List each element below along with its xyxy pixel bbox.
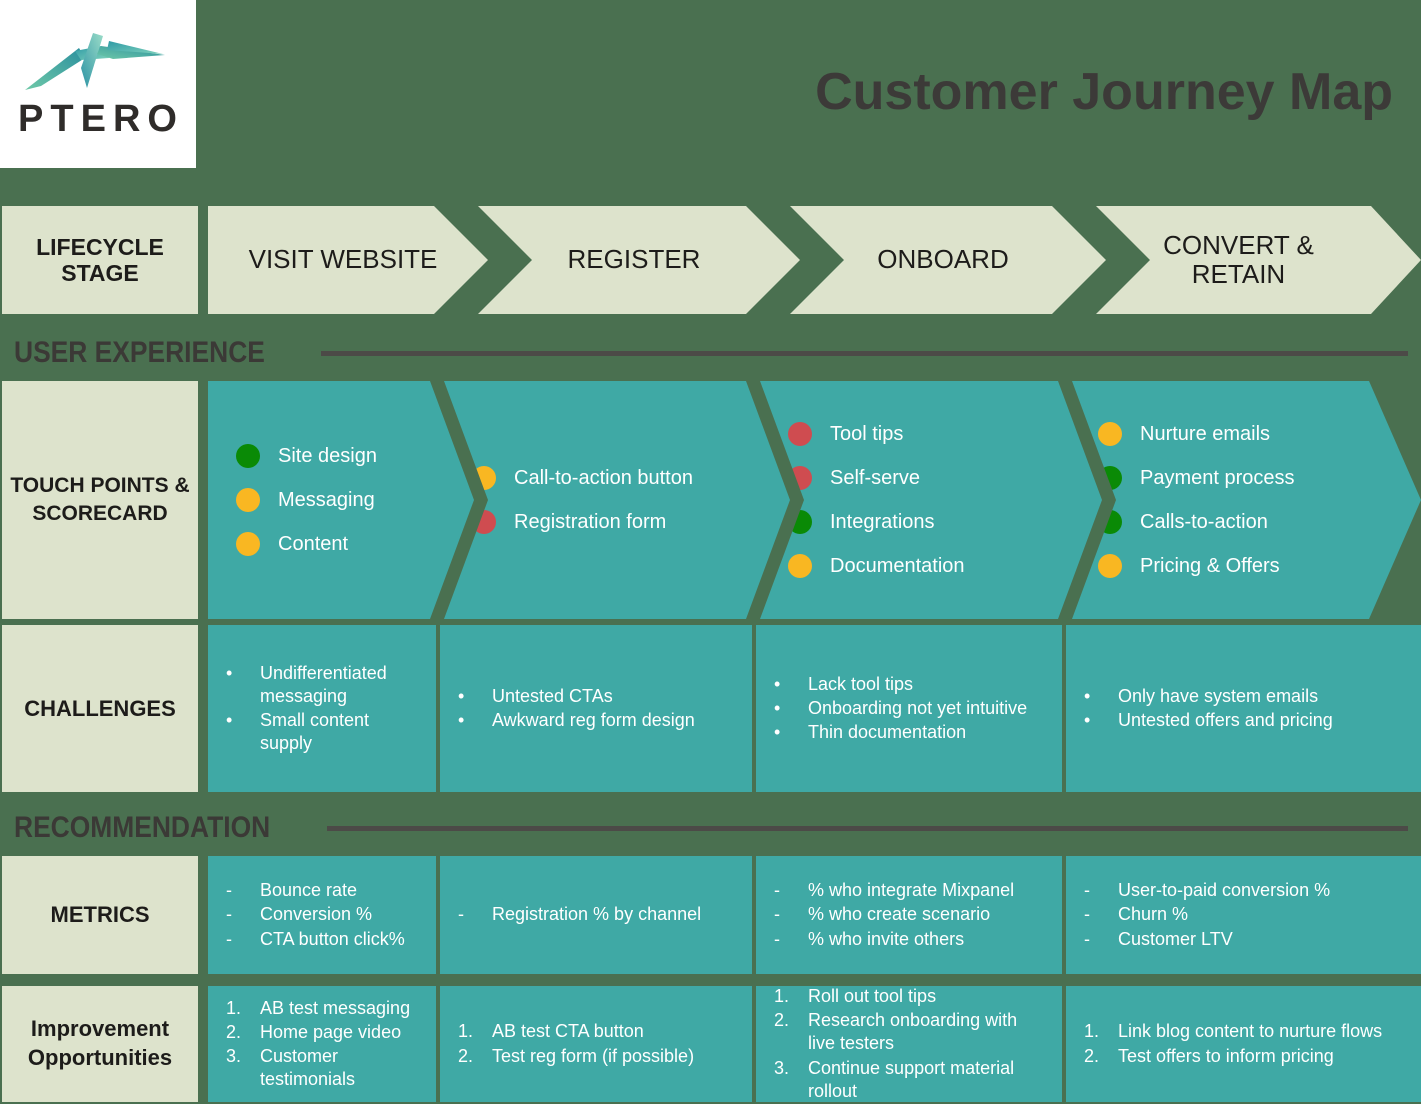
list-item-text: Churn % xyxy=(1118,903,1403,926)
touchpoint-item[interactable]: Call-to-action button xyxy=(472,466,768,490)
metrics-card-1: -Bounce rate-Conversion %-CTA button cli… xyxy=(208,856,436,974)
touchpoint-chevron-divider-1 xyxy=(426,381,492,619)
touchpoint-chevron-divider-3 xyxy=(1054,381,1120,619)
list-item: •Awkward reg form design xyxy=(458,709,734,732)
challenges-list: •Untested CTAs•Awkward reg form design xyxy=(458,684,734,733)
list-item: 2.Research onboarding with live testers xyxy=(774,1009,1044,1055)
list-item: •Onboarding not yet intuitive xyxy=(774,697,1044,720)
stage-chevron-separator-2 xyxy=(746,206,846,314)
list-item-text: AB test messaging xyxy=(260,997,418,1020)
list-item: -Churn % xyxy=(1084,903,1403,926)
touchpoint-item[interactable]: Calls-to-action xyxy=(1098,510,1421,534)
improvement-card-2: 1.AB test CTA button2.Test reg form (if … xyxy=(440,986,752,1102)
list-item-text: Thin documentation xyxy=(808,721,1044,744)
list-item-text: Roll out tool tips xyxy=(808,985,1044,1008)
list-item-text: Home page video xyxy=(260,1021,418,1044)
metrics-list: -% who integrate Mixpanel-% who create s… xyxy=(774,878,1044,951)
touchpoint-label: Site design xyxy=(278,445,377,468)
metrics-list: -Registration % by channel xyxy=(458,902,734,927)
list-marker: 2. xyxy=(458,1045,492,1068)
challenges-list: •Undifferentiated messaging•Small conten… xyxy=(226,661,418,756)
lifecycle-stage-strip: VISIT WEBSITEREGISTERONBOARDCONVERT & RE… xyxy=(208,206,1421,314)
row-label-metrics: METRICS xyxy=(2,856,198,974)
list-item-text: Awkward reg form design xyxy=(492,709,734,732)
list-item: •Undifferentiated messaging xyxy=(226,662,418,708)
list-item-text: % who invite others xyxy=(808,928,1044,951)
list-item-text: Customer LTV xyxy=(1118,928,1403,951)
list-item-text: Registration % by channel xyxy=(492,903,734,926)
list-item-text: Link blog content to nurture flows xyxy=(1118,1020,1403,1043)
challenges-card-1: •Undifferentiated messaging•Small conten… xyxy=(208,625,436,792)
list-item-text: Bounce rate xyxy=(260,879,418,902)
list-item-text: Only have system emails xyxy=(1118,685,1403,708)
touchpoint-item[interactable]: Self-serve xyxy=(788,466,1078,490)
section-rule xyxy=(321,351,1408,356)
list-marker: - xyxy=(774,879,808,902)
touchpoint-item[interactable]: Site design xyxy=(236,444,452,468)
touchpoint-label: Messaging xyxy=(278,489,375,512)
section-heading-recommendation: RECOMMENDATION xyxy=(14,811,1414,845)
list-marker: - xyxy=(1084,903,1118,926)
status-dot-green-icon xyxy=(236,444,260,468)
touchpoint-item[interactable]: Content xyxy=(236,532,452,556)
list-item: -% who create scenario xyxy=(774,903,1044,926)
list-marker: • xyxy=(774,697,808,720)
list-marker: • xyxy=(458,709,492,732)
stage-chevron-separator-3 xyxy=(1052,206,1152,314)
touchpoint-label: Calls-to-action xyxy=(1140,511,1268,534)
challenges-row: CHALLENGES •Undifferentiated messaging•S… xyxy=(0,625,1421,792)
lifecycle-stage-label: ONBOARD xyxy=(877,245,1008,274)
list-item: 1.Roll out tool tips xyxy=(774,985,1044,1008)
list-item: -Conversion % xyxy=(226,903,418,926)
improvement-card-3: 1.Roll out tool tips2.Research onboardin… xyxy=(756,986,1062,1102)
challenges-list: •Only have system emails•Untested offers… xyxy=(1084,684,1403,733)
improvement-list: 1.AB test messaging2.Home page video3.Cu… xyxy=(226,996,418,1092)
improvement-card-4: 1.Link blog content to nurture flows2.Te… xyxy=(1066,986,1421,1102)
touchpoint-label: Nurture emails xyxy=(1140,423,1270,446)
list-item: -% who invite others xyxy=(774,928,1044,951)
improvement-opportunities-row: Improvement Opportunities 1.AB test mess… xyxy=(0,986,1421,1102)
list-item: •Lack tool tips xyxy=(774,673,1044,696)
list-item-text: CTA button click% xyxy=(260,928,418,951)
list-marker: 3. xyxy=(226,1045,260,1091)
touchpoint-item[interactable]: Pricing & Offers xyxy=(1098,554,1421,578)
list-item-text: Continue support material rollout xyxy=(808,1057,1044,1103)
list-marker: - xyxy=(774,928,808,951)
list-marker: 1. xyxy=(1084,1020,1118,1043)
list-item: 2.Test offers to inform pricing xyxy=(1084,1045,1403,1068)
list-item-text: Onboarding not yet intuitive xyxy=(808,697,1044,720)
list-item-text: % who create scenario xyxy=(808,903,1044,926)
list-item: •Only have system emails xyxy=(1084,685,1403,708)
list-marker: 1. xyxy=(774,985,808,1008)
section-title: USER EXPERIENCE xyxy=(14,336,265,370)
list-marker: 2. xyxy=(774,1009,808,1055)
list-item: 2.Home page video xyxy=(226,1021,418,1044)
challenges-list: •Lack tool tips•Onboarding not yet intui… xyxy=(774,672,1044,745)
touchpoints-row: TOUCH POINTS & SCORECARD Site designMess… xyxy=(0,381,1421,619)
list-item: -Customer LTV xyxy=(1084,928,1403,951)
list-marker: - xyxy=(1084,928,1118,951)
improvement-list: 1.Roll out tool tips2.Research onboardin… xyxy=(774,984,1044,1103)
touchpoint-label: Registration form xyxy=(514,511,666,534)
list-item: •Untested CTAs xyxy=(458,685,734,708)
metrics-card-3: -% who integrate Mixpanel-% who create s… xyxy=(756,856,1062,974)
list-item: •Untested offers and pricing xyxy=(1084,709,1403,732)
list-item-text: User-to-paid conversion % xyxy=(1118,879,1403,902)
list-marker: • xyxy=(774,721,808,744)
list-item-text: Untested offers and pricing xyxy=(1118,709,1403,732)
list-item: 1.AB test messaging xyxy=(226,997,418,1020)
list-marker: • xyxy=(1084,709,1118,732)
list-item: •Small content supply xyxy=(226,709,418,755)
list-marker: - xyxy=(226,903,260,926)
list-item: 3.Continue support material rollout xyxy=(774,1057,1044,1103)
metrics-card-2: -Registration % by channel xyxy=(440,856,752,974)
touchpoint-label: Payment process xyxy=(1140,467,1295,490)
touchpoint-label: Tool tips xyxy=(830,423,903,446)
list-item: -% who integrate Mixpanel xyxy=(774,879,1044,902)
touchpoint-label: Call-to-action button xyxy=(514,467,693,490)
improvement-list: 1.AB test CTA button2.Test reg form (if … xyxy=(458,1019,734,1068)
touchpoint-label: Content xyxy=(278,533,348,556)
list-item: -Bounce rate xyxy=(226,879,418,902)
row-label-challenges: CHALLENGES xyxy=(2,625,198,792)
challenges-card-2: •Untested CTAs•Awkward reg form design xyxy=(440,625,752,792)
list-marker: 1. xyxy=(458,1020,492,1043)
section-title: RECOMMENDATION xyxy=(14,811,270,845)
challenges-card-4: •Only have system emails•Untested offers… xyxy=(1066,625,1421,792)
improvement-list: 1.Link blog content to nurture flows2.Te… xyxy=(1084,1019,1403,1068)
list-item: -CTA button click% xyxy=(226,928,418,951)
improvement-card-1: 1.AB test messaging2.Home page video3.Cu… xyxy=(208,986,436,1102)
list-marker: • xyxy=(1084,685,1118,708)
list-item-text: Test offers to inform pricing xyxy=(1118,1045,1403,1068)
status-dot-yellow-icon xyxy=(236,488,260,512)
section-heading-user-experience: USER EXPERIENCE xyxy=(14,336,1414,370)
touchpoint-item[interactable]: Messaging xyxy=(236,488,452,512)
list-marker: • xyxy=(226,709,260,755)
list-item: •Thin documentation xyxy=(774,721,1044,744)
list-marker: - xyxy=(458,903,492,926)
metrics-row: METRICS -Bounce rate-Conversion %-CTA bu… xyxy=(0,856,1421,974)
touchpoint-label: Pricing & Offers xyxy=(1140,555,1280,578)
brand-logo: PTERO xyxy=(0,0,196,168)
list-item-text: Research onboarding with live testers xyxy=(808,1009,1044,1055)
list-item-text: Lack tool tips xyxy=(808,673,1044,696)
lifecycle-stage-row: LIFECYCLE STAGE VISIT WEBSITEREGISTERONB… xyxy=(0,206,1421,314)
list-item: -Registration % by channel xyxy=(458,903,734,926)
lifecycle-stage-label: REGISTER xyxy=(568,245,701,274)
touchpoint-item[interactable]: Integrations xyxy=(788,510,1078,534)
list-marker: 2. xyxy=(1084,1045,1118,1068)
touchpoint-item[interactable]: Tool tips xyxy=(788,422,1078,446)
touchpoints-strip: Site designMessagingContentCall-to-actio… xyxy=(208,381,1421,619)
list-marker: 2. xyxy=(226,1021,260,1044)
metrics-list: -User-to-paid conversion %-Churn %-Custo… xyxy=(1084,878,1403,951)
touchpoint-column-1: Site designMessagingContent xyxy=(208,381,452,619)
touchpoint-item[interactable]: Nurture emails xyxy=(1098,422,1421,446)
touchpoint-label: Documentation xyxy=(830,555,965,578)
list-marker: • xyxy=(458,685,492,708)
list-item-text: Conversion % xyxy=(260,903,418,926)
pterodactyl-bird-icon xyxy=(23,28,173,96)
row-label-lifecycle: LIFECYCLE STAGE xyxy=(2,206,198,314)
list-item-text: Untested CTAs xyxy=(492,685,734,708)
list-marker: 1. xyxy=(226,997,260,1020)
touchpoint-chevron-divider-2 xyxy=(742,381,808,619)
page-header: PTERO Customer Journey Map xyxy=(0,0,1421,196)
brand-wordmark: PTERO xyxy=(12,98,184,141)
list-item: 2.Test reg form (if possible) xyxy=(458,1045,734,1068)
list-item-text: AB test CTA button xyxy=(492,1020,734,1043)
list-item: 1.AB test CTA button xyxy=(458,1020,734,1043)
list-item: 1.Link blog content to nurture flows xyxy=(1084,1020,1403,1043)
row-label-touchpoints: TOUCH POINTS & SCORECARD xyxy=(2,381,198,619)
touchpoint-item[interactable]: Documentation xyxy=(788,554,1078,578)
status-dot-yellow-icon xyxy=(236,532,260,556)
row-label-improvement: Improvement Opportunities xyxy=(2,986,198,1102)
list-marker: 3. xyxy=(774,1057,808,1103)
list-item-text: Undifferentiated messaging xyxy=(260,662,418,708)
list-item: 3.Customer testimonials xyxy=(226,1045,418,1091)
list-item-text: % who integrate Mixpanel xyxy=(808,879,1044,902)
section-rule xyxy=(327,826,1408,831)
lifecycle-stage-label: CONVERT & RETAIN xyxy=(1122,231,1356,289)
list-item: -User-to-paid conversion % xyxy=(1084,879,1403,902)
touchpoint-label: Integrations xyxy=(830,511,935,534)
list-marker: - xyxy=(226,928,260,951)
list-marker: - xyxy=(226,879,260,902)
lifecycle-stage-label: VISIT WEBSITE xyxy=(249,245,438,274)
stage-chevron-separator-1 xyxy=(434,206,534,314)
list-item-text: Small content supply xyxy=(260,709,418,755)
list-marker: - xyxy=(1084,879,1118,902)
list-item-text: Test reg form (if possible) xyxy=(492,1045,734,1068)
touchpoint-label: Self-serve xyxy=(830,467,920,490)
page-title: Customer Journey Map xyxy=(815,62,1393,122)
touchpoint-item[interactable]: Payment process xyxy=(1098,466,1421,490)
list-marker: • xyxy=(226,662,260,708)
list-item-text: Customer testimonials xyxy=(260,1045,418,1091)
touchpoint-item[interactable]: Registration form xyxy=(472,510,768,534)
challenges-card-3: •Lack tool tips•Onboarding not yet intui… xyxy=(756,625,1062,792)
metrics-card-4: -User-to-paid conversion %-Churn %-Custo… xyxy=(1066,856,1421,974)
metrics-list: -Bounce rate-Conversion %-CTA button cli… xyxy=(226,878,418,951)
list-marker: - xyxy=(774,903,808,926)
list-marker: • xyxy=(774,673,808,696)
